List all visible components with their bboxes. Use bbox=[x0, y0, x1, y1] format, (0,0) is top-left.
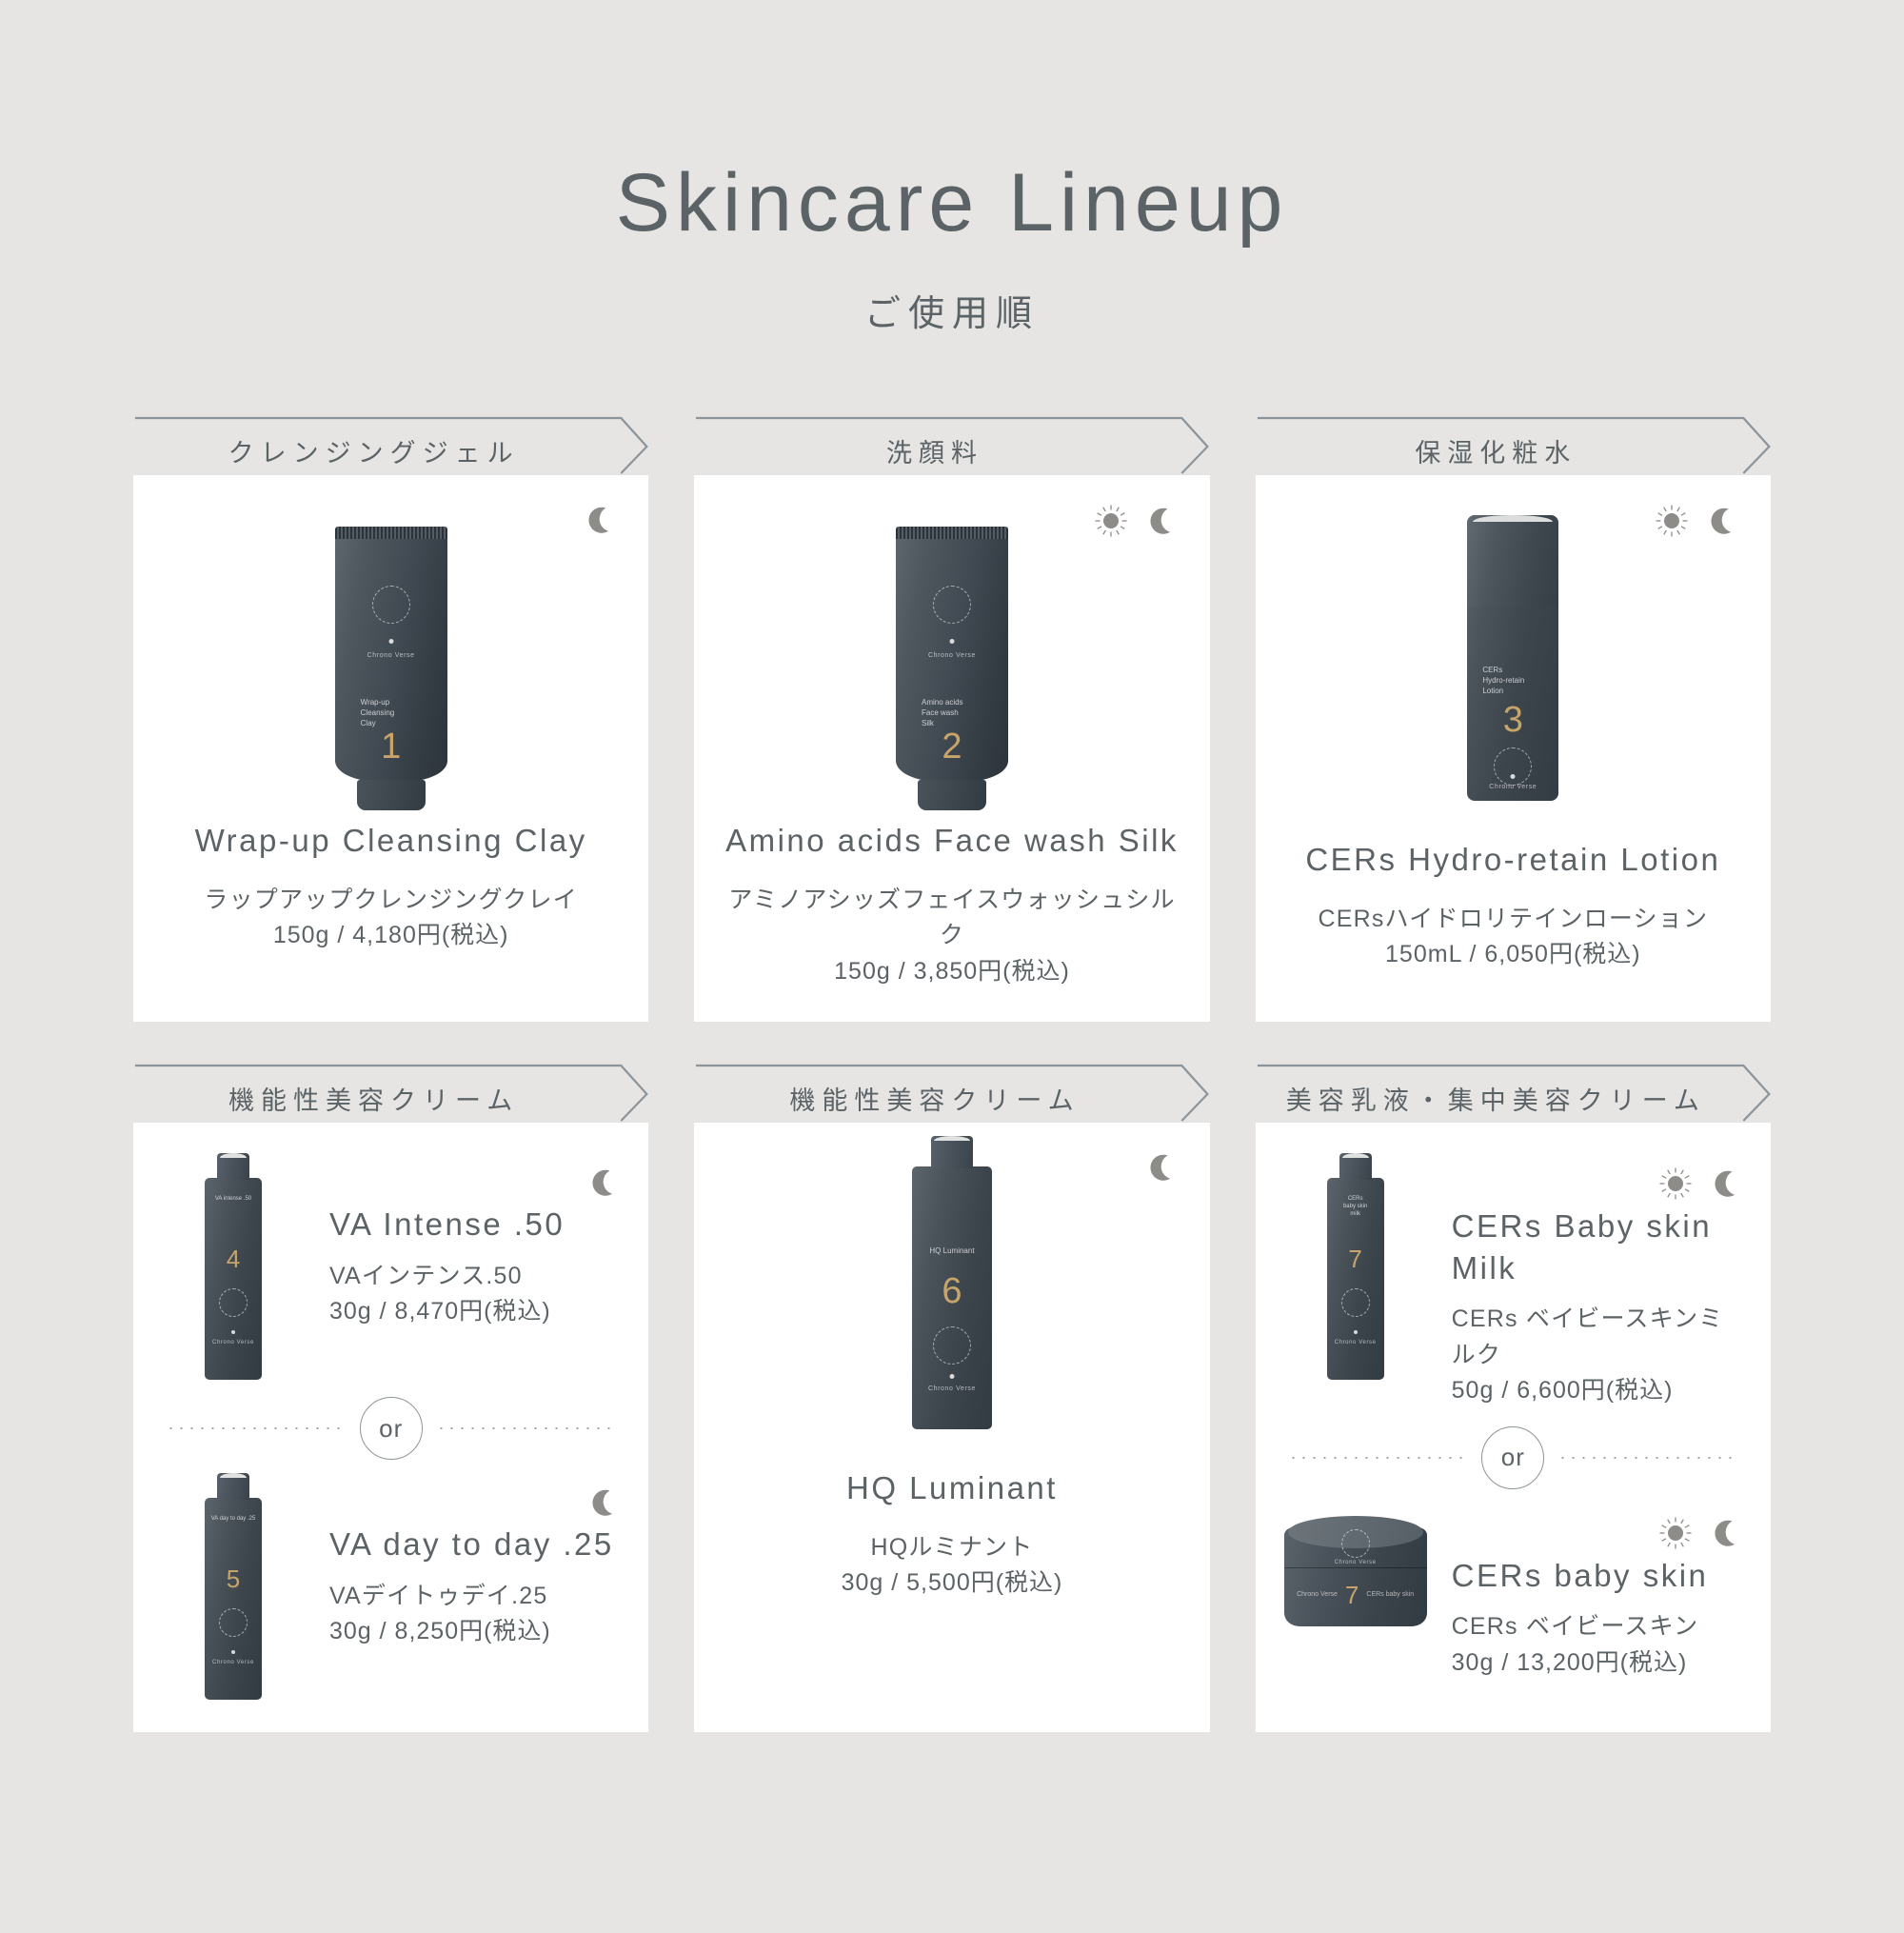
product-title-jp: CERs ベイビースキンミルク bbox=[1452, 1302, 1742, 1373]
product-image-pump: HQ Luminant 6 Chrono Verse bbox=[912, 1166, 992, 1429]
product-visual: Chrono Verse Chrono Verse 7 CERs baby sk… bbox=[1284, 1499, 1427, 1626]
category-label-5: 美容乳液・集中美容クリーム bbox=[1286, 1080, 1740, 1117]
product-title-jp: VAインテンス.50 bbox=[329, 1259, 620, 1295]
product-title: CERs Hydro-retain Lotion bbox=[1305, 839, 1720, 881]
category-label-3: 機能性美容クリーム bbox=[228, 1080, 553, 1117]
product-image-pump: VA day to day .25 5 Chrono Verse bbox=[205, 1498, 262, 1700]
moon-icon bbox=[587, 1166, 620, 1204]
category-banner: 機能性美容クリーム bbox=[694, 1052, 1209, 1123]
page-title: Skincare Lineup bbox=[0, 162, 1904, 244]
or-badge: or bbox=[360, 1397, 423, 1460]
category-banner: 美容乳液・集中美容クリーム bbox=[1256, 1052, 1771, 1123]
product-visual: Chrono Verse Amino acids Face wash Silk … bbox=[896, 502, 1008, 782]
product-price: 30g / 13,200円(税込) bbox=[1452, 1645, 1742, 1682]
product-title-jp: アミノアシッズフェイスウォッシュシルク bbox=[723, 883, 1180, 954]
product-card[interactable]: CERs Hydro-retain Lotion 3 Chrono Verse … bbox=[1256, 475, 1771, 1022]
page-subtitle: ご使用順 bbox=[0, 284, 1904, 336]
lineup-column-3: 機能性美容クリーム VA intense .50 4 Chrono Verse … bbox=[133, 1052, 648, 1732]
sun-icon bbox=[1655, 504, 1689, 543]
dotted-line-left bbox=[1288, 1457, 1469, 1459]
lineup-column-0: クレンジングジェル Chrono Verse Wrap-up Cleansing… bbox=[133, 405, 648, 1022]
product-entry[interactable]: VA intense .50 4 Chrono Verse VA Intense… bbox=[162, 1149, 620, 1380]
product-title: Amino acids Face wash Silk bbox=[725, 820, 1179, 862]
lineup-column-2: 保湿化粧水 CERs Hydro-retain Lotion 3 Chrono … bbox=[1256, 405, 1771, 1022]
moon-icon bbox=[1145, 505, 1178, 542]
product-image-pump: VA intense .50 4 Chrono Verse bbox=[205, 1178, 262, 1380]
lineup-column-4: 機能性美容クリーム HQ Luminant 6 Chrono Verse HQ … bbox=[694, 1052, 1209, 1732]
product-entry[interactable]: CERs baby skin milk 7 Chrono Verse CERs … bbox=[1284, 1149, 1742, 1409]
usage-time-icons bbox=[1452, 1516, 1742, 1555]
sun-icon bbox=[1658, 1516, 1693, 1555]
moon-icon bbox=[1710, 1517, 1742, 1554]
product-image-pump: CERs baby skin milk 7 Chrono Verse bbox=[1327, 1178, 1384, 1380]
category-label-4: 機能性美容クリーム bbox=[789, 1080, 1114, 1117]
usage-time-icons bbox=[329, 1486, 620, 1524]
product-title: CERs Baby skin Milk bbox=[1452, 1206, 1742, 1288]
product-title: VA Intense .50 bbox=[329, 1204, 620, 1245]
product-title-jp: CERs ベイビースキン bbox=[1452, 1609, 1742, 1645]
product-title: HQ Luminant bbox=[846, 1467, 1058, 1509]
or-divider: or bbox=[162, 1397, 620, 1460]
usage-time-icons bbox=[584, 504, 616, 541]
or-divider: or bbox=[1284, 1426, 1742, 1489]
page-header: Skincare Lineup ご使用順 bbox=[0, 0, 1904, 336]
category-banner: 機能性美容クリーム bbox=[133, 1052, 648, 1123]
moon-icon bbox=[584, 504, 616, 541]
dotted-line-right bbox=[1557, 1457, 1738, 1459]
dotted-line-left bbox=[166, 1427, 347, 1429]
product-visual: VA intense .50 4 Chrono Verse bbox=[162, 1149, 305, 1380]
product-title: Wrap-up Cleansing Clay bbox=[195, 820, 587, 862]
skincare-lineup-grid: クレンジングジェル Chrono Verse Wrap-up Cleansing… bbox=[133, 336, 1771, 1732]
product-visual: Chrono Verse Wrap-up Cleansing Clay 1 bbox=[335, 502, 447, 782]
category-banner: クレンジングジェル bbox=[133, 405, 648, 475]
moon-icon bbox=[587, 1486, 620, 1524]
product-card[interactable]: VA intense .50 4 Chrono Verse VA Intense… bbox=[133, 1123, 648, 1732]
usage-time-icons bbox=[1655, 504, 1738, 543]
product-price: 150g / 3,850円(税込) bbox=[834, 954, 1070, 990]
usage-time-icons bbox=[1452, 1166, 1742, 1206]
product-image-tube: Chrono Verse Amino acids Face wash Silk … bbox=[896, 527, 1008, 782]
product-visual: VA day to day .25 5 Chrono Verse bbox=[162, 1469, 305, 1700]
category-label-2: 保湿化粧水 bbox=[1415, 432, 1611, 469]
moon-icon bbox=[1710, 1167, 1742, 1205]
product-card[interactable]: Chrono Verse Amino acids Face wash Silk … bbox=[694, 475, 1209, 1022]
lineup-column-5: 美容乳液・集中美容クリーム CERs baby skin milk 7 Chro… bbox=[1256, 1052, 1771, 1732]
moon-icon bbox=[1706, 505, 1738, 542]
usage-time-icons bbox=[329, 1166, 620, 1204]
usage-time-icons bbox=[1145, 1151, 1178, 1188]
product-visual: CERs Hydro-retain Lotion 3 Chrono Verse bbox=[1467, 502, 1558, 801]
product-price: 150mL / 6,050円(税込) bbox=[1385, 937, 1641, 973]
product-card[interactable]: Chrono Verse Wrap-up Cleansing Clay 1 Wr… bbox=[133, 475, 648, 1022]
product-visual: HQ Luminant 6 Chrono Verse bbox=[912, 1149, 992, 1429]
product-price: 50g / 6,600円(税込) bbox=[1452, 1373, 1742, 1409]
product-title-jp: ラップアップクレンジングクレイ bbox=[204, 883, 578, 919]
product-price: 30g / 8,250円(税込) bbox=[329, 1614, 620, 1650]
product-price: 150g / 4,180円(税込) bbox=[273, 918, 509, 954]
sun-icon bbox=[1658, 1166, 1693, 1206]
or-badge: or bbox=[1481, 1426, 1544, 1489]
product-image-tube: Chrono Verse Wrap-up Cleansing Clay 1 bbox=[335, 527, 447, 782]
product-title-jp: VAデイトゥデイ.25 bbox=[329, 1579, 620, 1615]
product-price: 30g / 5,500円(税込) bbox=[842, 1565, 1063, 1602]
product-title-jp: HQルミナント bbox=[871, 1530, 1034, 1566]
moon-icon bbox=[1145, 1151, 1178, 1188]
product-image-bottle: CERs Hydro-retain Lotion 3 Chrono Verse bbox=[1467, 515, 1558, 801]
dotted-line-right bbox=[436, 1427, 617, 1429]
product-title-jp: CERsハイドロリテインローション bbox=[1318, 902, 1708, 938]
category-banner: 洗顔料 bbox=[694, 405, 1209, 475]
product-visual: CERs baby skin milk 7 Chrono Verse bbox=[1284, 1149, 1427, 1380]
product-image-jar: Chrono Verse Chrono Verse 7 CERs baby sk… bbox=[1284, 1527, 1427, 1626]
category-label-1: 洗顔料 bbox=[886, 432, 1018, 469]
usage-time-icons bbox=[1094, 504, 1178, 543]
product-title: CERs baby skin bbox=[1452, 1555, 1742, 1597]
product-entry[interactable]: VA day to day .25 5 Chrono Verse VA day … bbox=[162, 1469, 620, 1700]
product-card[interactable]: CERs baby skin milk 7 Chrono Verse CERs … bbox=[1256, 1123, 1771, 1732]
product-entry[interactable]: Chrono Verse Chrono Verse 7 CERs baby sk… bbox=[1284, 1499, 1742, 1682]
category-label-0: クレンジングジェル bbox=[228, 432, 554, 469]
product-card[interactable]: HQ Luminant 6 Chrono Verse HQ Luminant H… bbox=[694, 1123, 1209, 1732]
lineup-column-1: 洗顔料 Chrono Verse Amino acids Face wash S… bbox=[694, 405, 1209, 1022]
product-title: VA day to day .25 bbox=[329, 1524, 620, 1565]
sun-icon bbox=[1094, 504, 1128, 543]
product-price: 30g / 8,470円(税込) bbox=[329, 1294, 620, 1330]
category-banner: 保湿化粧水 bbox=[1256, 405, 1771, 475]
